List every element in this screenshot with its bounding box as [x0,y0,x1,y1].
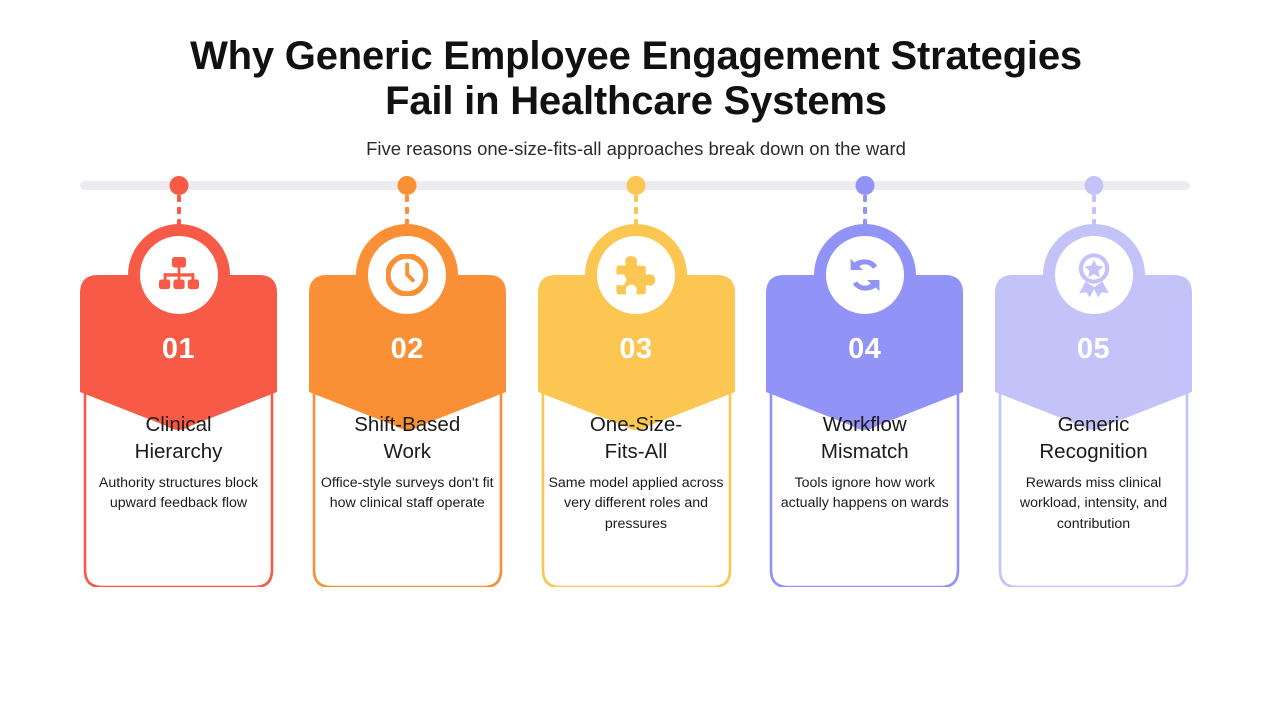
card-title-line-2: Recognition [1039,440,1147,463]
card-title-line-1: Workflow [823,413,907,436]
card-text: ClinicalHierarchyAuthority structures bl… [89,412,268,514]
card-description: Tools ignore how work actually happens o… [775,473,954,513]
card-number: 03 [538,333,735,366]
connector-line-02 [405,195,409,227]
icon-badge-03 [585,224,687,326]
card-title-line-1: Clinical [145,413,211,436]
card-title: One-Size-Fits-All [547,412,726,465]
card-title-line-2: Work [384,440,431,463]
card-title-line-1: Shift-Based [354,413,460,436]
card-01[interactable]: 01ClinicalHierarchyAuthority structures … [80,176,277,596]
card-text: Shift-BasedWorkOffice-style surveys don'… [318,412,497,514]
icon-badge-01 [128,224,230,326]
card-title-line-2: Mismatch [821,440,909,463]
card-number: 02 [309,333,506,366]
infographic-canvas: Why Generic Employee Engagement Strategi… [0,0,1272,710]
card-title: Shift-BasedWork [318,412,497,465]
page-title-line-1: Why Generic Employee Engagement Strategi… [190,34,1082,78]
card-title: WorkflowMismatch [775,412,954,465]
page-title-line-2: Fail in Healthcare Systems [385,79,887,123]
card-description: Authority structures block upward feedba… [89,473,268,513]
card-title: ClinicalHierarchy [89,412,268,465]
award-medal-icon [1055,236,1133,314]
card-title-line-2: Hierarchy [135,440,223,463]
card-number: 01 [80,333,277,366]
card-number: 05 [995,333,1192,366]
connector-line-04 [863,195,867,227]
rail-dot-02 [398,176,417,195]
card-description: Office-style surveys don't fit how clini… [318,473,497,513]
card-title: GenericRecognition [1004,412,1183,465]
clock-icon [368,236,446,314]
card-05[interactable]: 05GenericRecognitionRewards miss clinica… [995,176,1192,596]
page-title: Why Generic Employee Engagement Strategi… [0,34,1272,124]
rail-dot-01 [169,176,188,195]
icon-badge-04 [814,224,916,326]
connector-line-01 [177,195,181,227]
sync-arrows-icon [826,236,904,314]
card-title-line-2: Fits-All [605,440,668,463]
card-description: Rewards miss clinical workload, intensit… [1004,473,1183,533]
rail-dot-03 [627,176,646,195]
card-02[interactable]: 02Shift-BasedWorkOffice-style surveys do… [309,176,506,596]
card-title-line-1: Generic [1058,413,1130,436]
puzzle-piece-icon [597,236,675,314]
page-subtitle: Five reasons one-size-fits-all approache… [0,138,1272,160]
cards-container: 01ClinicalHierarchyAuthority structures … [80,176,1192,596]
card-03[interactable]: 03One-Size-Fits-AllSame model applied ac… [538,176,735,596]
header: Why Generic Employee Engagement Strategi… [0,34,1272,160]
icon-badge-02 [356,224,458,326]
card-title-line-1: One-Size- [590,413,682,436]
card-text: WorkflowMismatchTools ignore how work ac… [775,412,954,514]
hierarchy-icon [140,236,218,314]
card-text: GenericRecognitionRewards miss clinical … [1004,412,1183,534]
connector-line-03 [634,195,638,227]
connector-line-05 [1092,195,1096,227]
card-04[interactable]: 04WorkflowMismatchTools ignore how work … [766,176,963,596]
icon-badge-05 [1043,224,1145,326]
card-number: 04 [766,333,963,366]
rail-dot-04 [855,176,874,195]
card-description: Same model applied across very different… [547,473,726,533]
rail-dot-05 [1084,176,1103,195]
card-text: One-Size-Fits-AllSame model applied acro… [547,412,726,534]
